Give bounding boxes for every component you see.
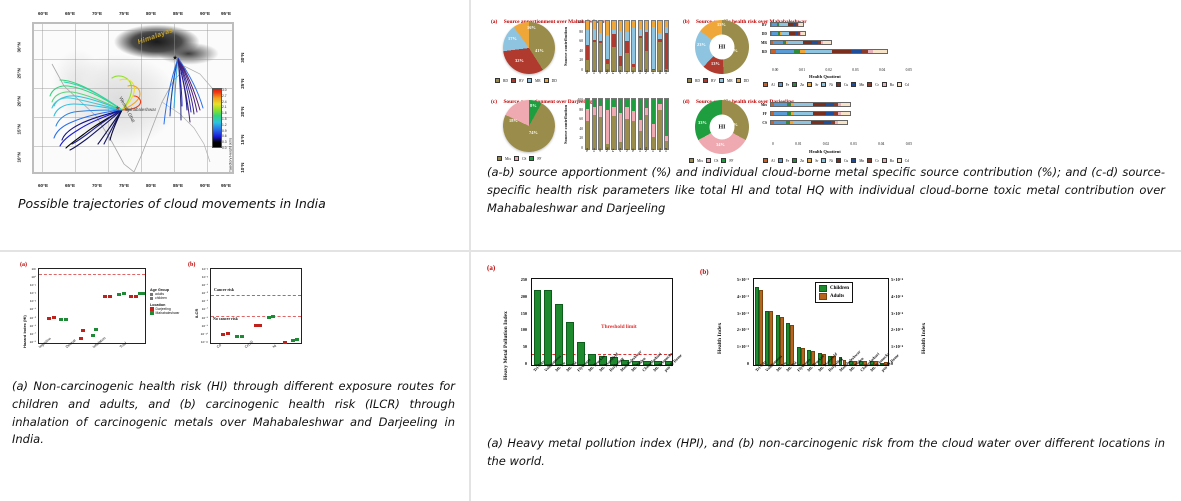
hbar-tickrow-d: 00.010.020.030.040.05 bbox=[772, 142, 912, 146]
metal-legend-Zn: Zn bbox=[800, 83, 804, 87]
stack-seg-MR bbox=[652, 27, 655, 69]
swatch-d-ff-icon bbox=[721, 158, 726, 163]
xticks-hbar-b: 0.000.010.020.030.040.05 bbox=[769, 68, 909, 72]
map-lon-tick-bot-1: 65°E bbox=[65, 183, 75, 188]
stack-seg-Mix bbox=[586, 121, 589, 149]
cbar-tick-7: 0.9 bbox=[222, 129, 230, 133]
stack-seg-CS bbox=[625, 107, 628, 119]
br-b-legend: Children Adults bbox=[815, 282, 853, 303]
hbar-seg-Fe bbox=[774, 112, 787, 115]
map-lat-tick-r-3: 25°N bbox=[240, 79, 245, 89]
caption-source-apportionment: (a-b) source apportionment (%) and indiv… bbox=[487, 164, 1165, 217]
map-lon-tick-bot-6: 90°E bbox=[200, 183, 210, 188]
metal-swatch-Zn-icon bbox=[792, 82, 797, 87]
swatch-b-mr-icon bbox=[719, 78, 724, 83]
subpanel-b-label: (b) bbox=[683, 19, 690, 25]
bl-a-marker-g-3 bbox=[91, 334, 95, 337]
metal-legend-Ni: Ni bbox=[829, 159, 833, 163]
cbar-tick-0: 3.0 bbox=[222, 88, 230, 92]
metal-legend-Sr: Sr bbox=[815, 83, 818, 87]
stack-column-a-Ba bbox=[657, 20, 662, 72]
bl-b-marker-g-1 bbox=[235, 335, 239, 338]
metal-swatch-Zn-icon bbox=[792, 158, 797, 163]
stack-xlabel-c-Na: Na bbox=[585, 148, 589, 152]
map-lon-tick-bot-2: 70°E bbox=[92, 183, 102, 188]
stack-xlabel-c-Mn: Mn bbox=[644, 147, 648, 152]
subpanel-c-label: (c) bbox=[491, 99, 497, 105]
bl-a-marker-r-8 bbox=[134, 295, 138, 298]
bl-a-ytick: 10⁻⁷ bbox=[30, 333, 36, 336]
stack-seg-DD bbox=[612, 21, 615, 30]
bl-b-ytick: 10⁻² bbox=[202, 268, 208, 271]
stack-column-a-Cr bbox=[651, 20, 656, 72]
map-lat-tick-l-4: 30°N bbox=[17, 42, 22, 52]
swatch-cs-icon bbox=[514, 156, 519, 161]
bl-a-ytick: 10⁻⁸ bbox=[30, 341, 36, 344]
hbar-xtick-0.01: 0.01 bbox=[795, 142, 801, 146]
br-b-ytick-left-4×10⁻²: 4×10⁻² bbox=[737, 295, 749, 299]
pie-a-pct-rd: 41% bbox=[535, 48, 544, 53]
hbar-row-b-RD: RD bbox=[769, 49, 909, 54]
health-risk-figure: (a) Hazard Index (HI) 10¹10⁰10⁻¹10⁻²10⁻³… bbox=[14, 260, 457, 370]
stack-seg-DD bbox=[606, 21, 609, 35]
bl-a-ytick: 10¹ bbox=[32, 268, 36, 271]
map-lon-tick-top-5: 85°E bbox=[173, 11, 183, 16]
swatch-bv-icon bbox=[511, 78, 516, 83]
stack-seg-MR bbox=[599, 33, 602, 41]
hbar-b-BV bbox=[770, 22, 804, 27]
stack-seg-Mix bbox=[625, 119, 628, 149]
br-a-ytick-150: 150 bbox=[521, 312, 527, 316]
hbar-cat-label-MR: MR bbox=[753, 41, 767, 45]
map-lon-tick-bot-5: 85°E bbox=[173, 183, 183, 188]
stack-column-c-Ca bbox=[592, 98, 597, 150]
br-b-legend-adults: Adults bbox=[819, 293, 849, 300]
source-apportionment-figure: (a) Source apportionment over Mahabalesh… bbox=[487, 8, 1169, 158]
hbar-xtick-0.05: 0.05 bbox=[906, 68, 912, 72]
hbar-seg-Ni bbox=[788, 41, 802, 44]
br-a-yticks: 250200150100500 bbox=[507, 278, 527, 366]
cbar-tick-6: 1.2 bbox=[222, 123, 230, 127]
stack-column-a-Cu bbox=[638, 20, 643, 72]
bl-legend-mahabaleshwar: Mahabaleshwar bbox=[150, 311, 196, 315]
stack-column-c-Al bbox=[598, 98, 603, 150]
stack-seg-FF bbox=[612, 99, 615, 107]
metal-legend-Cr: Cr bbox=[875, 83, 879, 87]
map-trajectories-svg bbox=[34, 24, 234, 174]
stack-seg-FF bbox=[619, 99, 622, 113]
metal-legend-Cu: Cu bbox=[844, 159, 848, 163]
caption-health-risk: (a) Non-carcinogenic health risk (HI) th… bbox=[12, 378, 455, 449]
hbar-cat-label-RD: RD bbox=[753, 50, 767, 54]
swatch-dd-icon bbox=[544, 78, 549, 83]
cbar-tick-2: 2.4 bbox=[222, 100, 230, 104]
stack-seg-CS bbox=[612, 107, 615, 116]
stack-seg-MR bbox=[586, 30, 589, 45]
hbar-seg-Fe bbox=[774, 103, 787, 106]
stack-seg-BV bbox=[619, 56, 622, 66]
panel-health-risk-routes: (a) Hazard Index (HI) 10¹10⁰10⁻¹10⁻²10⁻³… bbox=[0, 251, 470, 501]
metal-swatch-Al-icon bbox=[763, 158, 768, 163]
stack-xlabel-a-Fe: Fe bbox=[611, 71, 615, 74]
legend-metals-b: AlFeZnSrNiCuMnCrBaCd bbox=[763, 82, 909, 87]
stack-seg-MR bbox=[639, 29, 642, 36]
map-lat-tick-r-4: 30°N bbox=[240, 53, 245, 63]
hi-bar-Adults-Valldemossa bbox=[769, 311, 773, 365]
stack-seg-DD bbox=[599, 21, 602, 33]
map-lon-tick-top-3: 75°E bbox=[119, 11, 129, 16]
br-b-ytick-left-5×10⁻²: 5×10⁻² bbox=[737, 278, 749, 282]
stack-seg-CS bbox=[632, 111, 635, 121]
br-a-ytick-100: 100 bbox=[521, 328, 527, 332]
adults-swatch-icon bbox=[819, 293, 827, 300]
hbar-seg-Mn bbox=[824, 121, 832, 124]
ytick-c-80: 80 bbox=[579, 108, 583, 112]
stack-seg-CS bbox=[639, 120, 642, 131]
hbar-cat-label-CS: CS bbox=[753, 121, 767, 125]
stack-xlabel-c-Cd: Cd bbox=[664, 148, 668, 152]
hbar-seg-Cd bbox=[801, 32, 805, 35]
legend-d-cs: CS bbox=[714, 159, 718, 163]
ytick-a-0: 0 bbox=[581, 68, 583, 72]
bl-legend-mahabaleshwar-label: Mahabaleshwar bbox=[156, 311, 180, 315]
panel-grid: 60°E 65°E 70°E 75°E 80°E 85°E 90°E 95°E … bbox=[0, 0, 1181, 501]
hbar-xtick-0.00: 0.00 bbox=[772, 68, 778, 72]
mahabaleshwar-swatch-icon bbox=[150, 311, 154, 315]
bl-a-plot bbox=[38, 268, 146, 344]
metal-legend-Mn: Mn bbox=[859, 159, 864, 163]
bl-a-marker-r-1 bbox=[47, 317, 51, 320]
metal-legend-Ni: Ni bbox=[829, 83, 833, 87]
stack-column-c-Zn bbox=[618, 98, 623, 150]
bl-a-ytick: 10⁻⁴ bbox=[30, 308, 36, 311]
hbar-seg-Mn bbox=[826, 112, 834, 115]
swatch-rd-icon bbox=[495, 78, 500, 83]
stack-seg-FF bbox=[606, 99, 609, 110]
stack-xlabel-a-Ni: Ni bbox=[631, 71, 635, 74]
stack-seg-RD bbox=[645, 51, 648, 71]
bl-a-marker-r-4 bbox=[81, 329, 85, 332]
legend-a-mr: MR bbox=[535, 79, 541, 83]
br-b-legend-children-label: Children bbox=[830, 286, 849, 291]
map-lat-tick-r-0: 10°N bbox=[240, 163, 245, 173]
hbar-seg-Fe bbox=[774, 121, 786, 124]
colorbar-title: Trajectory Height (km) bbox=[228, 138, 232, 173]
stack-seg-FF bbox=[652, 99, 655, 124]
hpi-figure: (a) Heavy Metal Pollution Index 25020015… bbox=[485, 262, 1167, 427]
pie-a-pct-dd: 16% bbox=[527, 25, 536, 30]
bl-a-ytick: 10⁻⁵ bbox=[30, 317, 36, 320]
hbar-cat-label-DD: DD bbox=[753, 32, 767, 36]
legend-c-ff: FF bbox=[537, 157, 541, 161]
stack-column-c-Cr bbox=[651, 98, 656, 150]
metal-legend-Cr: Cr bbox=[875, 159, 879, 163]
stack-xlabel-c-Al: Al bbox=[598, 149, 602, 152]
swatch-mr-icon bbox=[527, 78, 532, 83]
bl-a-yticks: 10¹10⁰10⁻¹10⁻²10⁻³10⁻⁴10⁻⁵10⁻⁶10⁻⁷10⁻⁸ bbox=[24, 268, 36, 344]
bl-b-ytick: 10⁻¹⁰ bbox=[201, 333, 208, 336]
ytick-c-60: 60 bbox=[579, 117, 583, 121]
adults-marker-icon bbox=[150, 293, 153, 296]
stack-seg-BV bbox=[665, 33, 668, 69]
metal-swatch-Sr-icon bbox=[807, 82, 812, 87]
hbar-seg-Ni bbox=[794, 103, 813, 106]
bl-b-marker-g-4 bbox=[271, 315, 275, 318]
map-lon-tick-bot-0: 60°E bbox=[38, 183, 48, 188]
map-plot-area: Himalayas Mahabaleshwar Western Ghat 3.0… bbox=[32, 22, 234, 174]
bl-b-yticks: 10⁻²10⁻³10⁻⁴10⁻⁵10⁻⁶10⁻⁷10⁻⁸10⁻⁹10⁻¹⁰10⁻… bbox=[196, 268, 208, 344]
hbar-cat-label-BV: BV bbox=[753, 23, 767, 27]
swatch-b-bv-icon bbox=[703, 78, 708, 83]
stack-column-c-Ba bbox=[657, 98, 662, 150]
metal-swatch-Ba-icon bbox=[882, 158, 887, 163]
hbar-seg-Mn bbox=[826, 103, 834, 106]
bl-b-ytick: 10⁻⁴ bbox=[202, 284, 208, 287]
hbars-d: MixFFCS bbox=[769, 102, 909, 138]
br-b-ytick-right-3×10⁻⁴: 3×10⁻⁴ bbox=[891, 312, 903, 316]
metal-swatch-Fe-icon bbox=[778, 158, 783, 163]
stack-xlabel-a-Mg: Mg bbox=[605, 69, 609, 74]
metal-swatch-Fe-icon bbox=[778, 82, 783, 87]
bl-a-ytick: 10⁻⁶ bbox=[30, 325, 36, 328]
donut-d-pct-cs: 34% bbox=[716, 142, 725, 147]
stack-seg-RD bbox=[593, 42, 596, 71]
metal-swatch-Cu-icon bbox=[836, 158, 841, 163]
metal-swatch-Ba-icon bbox=[882, 82, 887, 87]
bl-a-marker-g-4 bbox=[94, 328, 98, 331]
hbar-seg-Ni bbox=[780, 23, 788, 26]
trajectory-map-figure: 60°E 65°E 70°E 75°E 80°E 85°E 90°E 95°E … bbox=[18, 10, 242, 190]
stack-seg-CS bbox=[593, 107, 596, 115]
metal-swatch-Mn-icon bbox=[851, 158, 856, 163]
bl-b-ytick: 10⁻⁶ bbox=[202, 300, 208, 303]
hbar-seg-Fe bbox=[773, 41, 783, 44]
hbars-b: BVDDMRRD bbox=[769, 22, 909, 66]
stack-seg-Mix bbox=[612, 116, 615, 149]
stack-seg-Mix bbox=[652, 137, 655, 149]
stack-xlabel-a-Zn: Zn bbox=[618, 70, 622, 74]
hbar-xtick-0.03: 0.03 bbox=[850, 142, 856, 146]
hbar-seg-Cu bbox=[813, 103, 826, 106]
children-swatch-icon bbox=[819, 285, 827, 292]
metal-legend-Ba: Ba bbox=[890, 83, 894, 87]
swatch-d-mix-icon bbox=[689, 158, 694, 163]
map-lat-tick-r-2: 20°N bbox=[240, 107, 245, 117]
ytick-c-40: 40 bbox=[579, 127, 583, 131]
stack-seg-Mix bbox=[599, 117, 602, 149]
panel-hpi-health-index: (a) Heavy Metal Pollution Index 25020015… bbox=[470, 251, 1181, 501]
hbar-cat-label-Mix: Mix bbox=[753, 103, 767, 107]
swatch-ff-icon bbox=[529, 156, 534, 161]
stack-seg-BV bbox=[645, 32, 648, 51]
donut-b-pct-mr: 23% bbox=[697, 42, 706, 47]
stack-column-a-Cd bbox=[664, 20, 669, 72]
metal-swatch-Mn-icon bbox=[851, 82, 856, 87]
hbar-xtick-0.02: 0.02 bbox=[823, 142, 829, 146]
metal-legend-Fe: Fe bbox=[786, 83, 790, 87]
hbar-seg-Cd bbox=[799, 23, 803, 26]
bl-b-xlabel-Ni: Ni bbox=[272, 344, 277, 349]
stack-xlabel-a-Na: Na bbox=[585, 70, 589, 74]
bl-a-marker-g-2 bbox=[64, 318, 68, 321]
hbar-b-DD bbox=[770, 31, 806, 36]
metal-legend-Zn: Zn bbox=[800, 159, 804, 163]
hbar-seg-Cu bbox=[813, 112, 826, 115]
swatch-d-cs-icon bbox=[706, 158, 711, 163]
stack-column-c-Mg bbox=[605, 98, 610, 150]
stack-xlabel-c-Mg: Mg bbox=[605, 147, 609, 152]
legend-pie-c: Mix CS FF bbox=[497, 156, 541, 161]
hbar-tickrow-b: 0.000.010.020.030.040.05 bbox=[772, 68, 912, 72]
hbar-cat-label-FF: FF bbox=[753, 112, 767, 116]
stack-column-a-Al bbox=[598, 20, 603, 72]
legend-a-dd: DD bbox=[552, 79, 557, 83]
legend-a-bv: BV bbox=[519, 79, 524, 83]
map-lon-tick-bot-7: 95°E bbox=[221, 183, 231, 188]
subpanel-d-label: (d) bbox=[683, 99, 690, 105]
stack-xlabel-c-Ca: Ca bbox=[592, 148, 596, 152]
br-b-ytick-left-3×10⁻²: 3×10⁻² bbox=[737, 312, 749, 316]
hbar-xtick-0.01: 0.01 bbox=[799, 68, 805, 72]
ytick-c-0: 0 bbox=[581, 146, 583, 150]
donut-d-pct-ff: 33% bbox=[698, 120, 707, 125]
stack-seg-BV bbox=[625, 41, 628, 53]
legend-c-mix: Mix bbox=[505, 157, 511, 161]
bl-b-marker-r-1 bbox=[221, 333, 225, 336]
donut-b-pct-rd: 49% bbox=[729, 48, 738, 53]
pie-a-pct-mr: 17% bbox=[508, 36, 517, 41]
bl-b-ytick: 10⁻³ bbox=[202, 276, 208, 279]
hbar-row-d-Mix: Mix bbox=[769, 102, 909, 107]
ylabel-stacked-a: Source contribution bbox=[563, 27, 568, 66]
metal-swatch-Cu-icon bbox=[836, 82, 841, 87]
stack-column-c-Na bbox=[585, 98, 590, 150]
bl-b-marker-r-5 bbox=[283, 341, 287, 344]
metal-legend-Sr: Sr bbox=[815, 159, 818, 163]
hbar-d-CS bbox=[770, 120, 848, 125]
stack-column-c-Sr bbox=[624, 98, 629, 150]
bl-a-marker-g-8 bbox=[141, 292, 145, 295]
stack-seg-MR bbox=[625, 32, 628, 41]
bl-a-legend: Age Group adults children Location Darje… bbox=[150, 288, 196, 315]
stack-seg-DD bbox=[639, 21, 642, 29]
bl-b-marker-r-4 bbox=[258, 324, 262, 327]
hbar-b-RD bbox=[770, 49, 888, 54]
hbar-row-b-MR: MR bbox=[769, 40, 909, 45]
metal-legend-Al: Al bbox=[771, 159, 775, 163]
map-lat-tick-l-2: 20°N bbox=[17, 96, 22, 106]
subpanel-a-label: (a) bbox=[491, 19, 497, 25]
map-lat-tick-l-3: 25°N bbox=[17, 68, 22, 78]
bl-b-marker-g-6 bbox=[295, 338, 299, 341]
metal-swatch-Cr-icon bbox=[867, 158, 872, 163]
bl-b-marker-g-2 bbox=[240, 335, 244, 338]
stack-seg-Mix bbox=[593, 115, 596, 149]
stack-xlabel-c-Zn: Zn bbox=[618, 148, 622, 152]
bl-b-cancer-risk-note: Cancer risk bbox=[214, 287, 234, 292]
legend-b-rd: RD bbox=[695, 79, 700, 83]
bl-a-marker-r-3 bbox=[79, 337, 83, 340]
bl-a-ytick: 10⁻² bbox=[30, 292, 36, 295]
pie-darjeeling: 74% 18% 8% bbox=[503, 100, 555, 152]
stack-seg-CS bbox=[652, 124, 655, 137]
stack-seg-CS bbox=[645, 108, 648, 115]
hbar-xtick-0.02: 0.02 bbox=[825, 68, 831, 72]
stacked-bars-a bbox=[585, 20, 669, 72]
br-b-ytick-left-0: 0 bbox=[747, 362, 749, 366]
donut-b-pct-dd: 15% bbox=[717, 22, 726, 27]
stack-seg-FF bbox=[632, 99, 635, 111]
stack-column-a-Sr bbox=[624, 20, 629, 72]
stack-seg-MR bbox=[593, 29, 596, 40]
metal-swatch-Cd-icon bbox=[897, 158, 902, 163]
legend-d-mix: Mix bbox=[697, 159, 703, 163]
hbar-seg-Ni bbox=[793, 121, 811, 124]
legend-a-rd: RD bbox=[503, 79, 508, 83]
legend-donut-d: Mix CS FF bbox=[689, 158, 733, 163]
hbar-seg-Fe bbox=[776, 50, 795, 53]
stack-column-a-Fe bbox=[611, 20, 616, 72]
stack-seg-BV bbox=[612, 34, 615, 47]
stack-seg-DD bbox=[632, 21, 635, 28]
stack-column-a-Ca bbox=[592, 20, 597, 72]
map-lon-tick-top-0: 60°E bbox=[38, 11, 48, 16]
yticks-stacked-c: 100 80 60 40 20 0 bbox=[569, 98, 583, 150]
hbar-seg-Cd bbox=[841, 112, 851, 115]
stack-column-c-Ni bbox=[631, 98, 636, 150]
bl-b-cancer-line bbox=[211, 295, 301, 296]
map-lat-tick-r-1: 15°N bbox=[240, 135, 245, 145]
bl-a-ytick: 10⁻³ bbox=[30, 300, 36, 303]
br-b-ytick-right-1×10⁻⁴: 1×10⁻⁴ bbox=[891, 345, 903, 349]
legend-c-cs: CS bbox=[522, 157, 526, 161]
br-b-ytick-right-5×10⁻⁴: 5×10⁻⁴ bbox=[891, 278, 903, 282]
donut-b-center: HI bbox=[710, 35, 735, 60]
cbar-tick-4: 1.8 bbox=[222, 111, 230, 115]
br-b-ytick-right-4×10⁻⁴: 4×10⁻⁴ bbox=[891, 295, 903, 299]
stack-xlabel-a-Cr: Cr bbox=[651, 71, 655, 74]
stack-xlabel-a-Al: Al bbox=[598, 71, 602, 74]
donut-d-center: HI bbox=[710, 115, 735, 140]
xticks-hbar-d: 00.010.020.030.040.05 bbox=[769, 142, 909, 146]
stack-seg-Mix bbox=[658, 110, 661, 149]
ytick-a-20: 20 bbox=[579, 58, 583, 62]
stack-seg-DD bbox=[645, 21, 648, 30]
br-subpanel-a-label: (a) bbox=[487, 264, 495, 272]
stack-seg-FF bbox=[665, 99, 668, 136]
stack-seg-FF bbox=[593, 99, 596, 107]
br-b-legend-children: Children bbox=[819, 285, 849, 292]
stack-seg-DD bbox=[593, 21, 596, 29]
br-b-ytick-left-2×10⁻²: 2×10⁻² bbox=[737, 328, 749, 332]
ytick-c-20: 20 bbox=[579, 136, 583, 140]
stack-xlabel-c-Sr: Sr bbox=[625, 149, 629, 152]
stack-seg-Mix bbox=[639, 131, 642, 149]
stack-seg-FF bbox=[599, 99, 602, 106]
pie-c-pct-mix: 74% bbox=[529, 130, 538, 135]
stack-seg-RD bbox=[639, 38, 642, 71]
hbar-seg-Cu bbox=[803, 41, 813, 44]
hbar-xtick-0.04: 0.04 bbox=[879, 68, 885, 72]
hpi-bar-Tri-City bbox=[534, 290, 542, 365]
panel-trajectory-map: 60°E 65°E 70°E 75°E 80°E 85°E 90°E 95°E … bbox=[0, 0, 470, 251]
donut-b-pct-bv: 13% bbox=[711, 61, 720, 66]
metal-swatch-Al-icon bbox=[763, 82, 768, 87]
metal-swatch-Cr-icon bbox=[867, 82, 872, 87]
legend-metals-d: AlFeZnSrNiCuMnCrBaCd bbox=[763, 158, 909, 163]
map-lon-tick-top-1: 65°E bbox=[65, 11, 75, 16]
hbar-seg-Cu bbox=[832, 50, 851, 53]
